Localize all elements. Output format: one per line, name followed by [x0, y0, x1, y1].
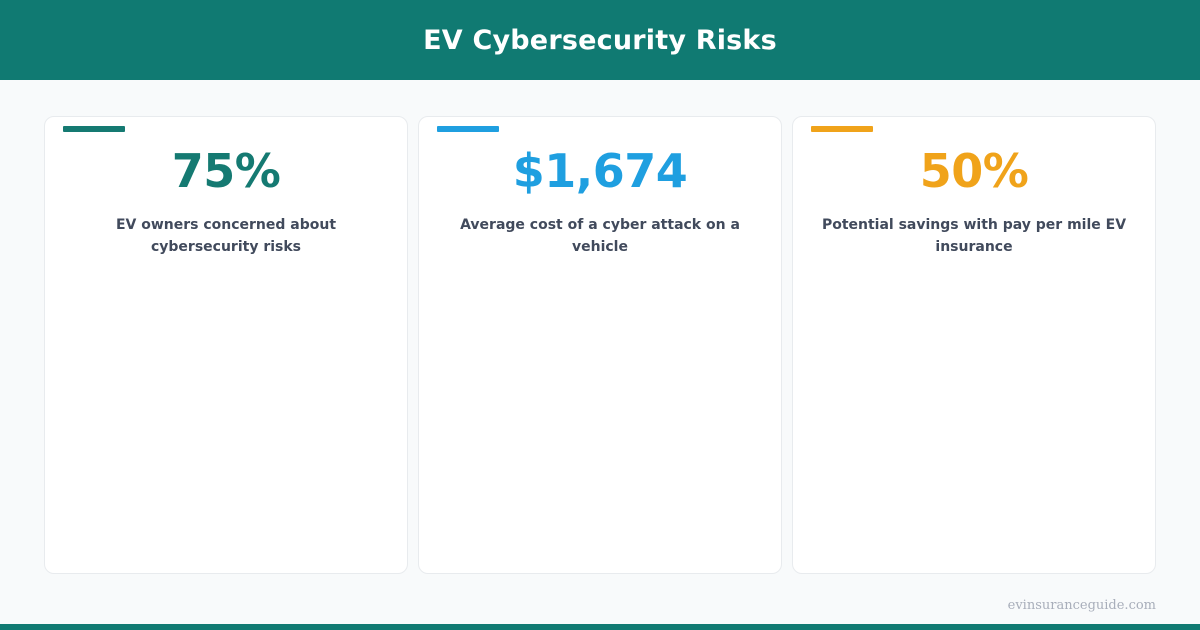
infographic-page: EV Cybersecurity Risks 75% EV owners con… [0, 0, 1200, 630]
stat-value: 50% [817, 148, 1131, 194]
stat-card: 75% EV owners concerned about cybersecur… [44, 116, 408, 574]
stat-value: $1,674 [443, 148, 757, 194]
page-title: EV Cybersecurity Risks [423, 25, 777, 56]
accent-bar-icon [437, 126, 499, 132]
stat-card: 50% Potential savings with pay per mile … [792, 116, 1156, 574]
stat-card-row: 75% EV owners concerned about cybersecur… [0, 80, 1200, 580]
stat-label: Potential savings with pay per mile EV i… [817, 215, 1131, 258]
page-header: EV Cybersecurity Risks [0, 0, 1200, 80]
page-footer: evinsuranceguide.com [0, 580, 1200, 630]
stat-label: Average cost of a cyber attack on a vehi… [443, 215, 757, 258]
stat-label: EV owners concerned about cybersecurity … [69, 215, 383, 258]
stat-value: 75% [69, 148, 383, 194]
accent-bar-icon [63, 126, 125, 132]
source-attribution: evinsuranceguide.com [1008, 598, 1156, 613]
bottom-rule [0, 624, 1200, 630]
stat-card: $1,674 Average cost of a cyber attack on… [418, 116, 782, 574]
accent-bar-icon [811, 126, 873, 132]
